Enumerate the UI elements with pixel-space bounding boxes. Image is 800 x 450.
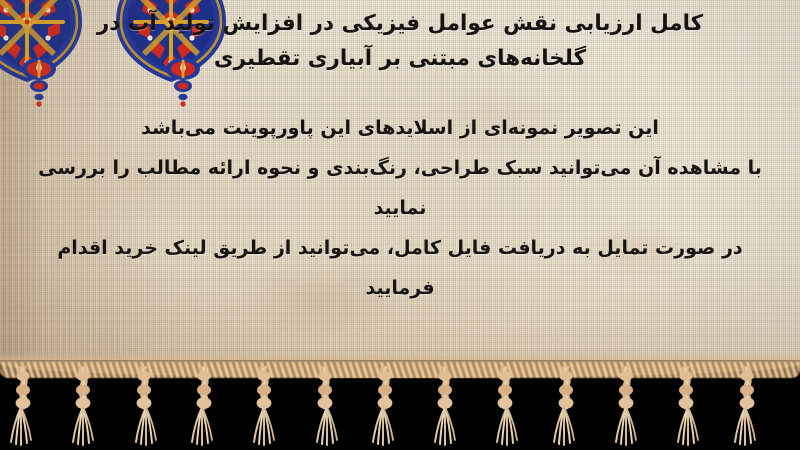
body-line-3: در صورت تمایل به دریافت فایل کامل، می‌تو… <box>20 228 780 308</box>
fringe-tassel <box>249 366 279 450</box>
fringe-tassel <box>129 366 159 450</box>
fringe-tassel <box>370 366 400 450</box>
fringe-tassel <box>490 366 520 450</box>
fringe-tassel <box>732 366 762 450</box>
fringe-tassel <box>310 366 340 450</box>
slide-text-layer: کامل ارزیابی نقش عوامل فیزیکی در افزایش … <box>0 0 800 372</box>
slide-canvas: کامل ارزیابی نقش عوامل فیزیکی در افزایش … <box>0 0 800 450</box>
slide-body: این تصویر نمونه‌ای از اسلایدهای این پاور… <box>20 108 780 308</box>
title-line-2: گلخانه‌های مبتنی بر آبیاری تقطیری <box>28 41 772 76</box>
body-line-1: این تصویر نمونه‌ای از اسلایدهای این پاور… <box>20 108 780 148</box>
slide-title: کامل ارزیابی نقش عوامل فیزیکی در افزایش … <box>28 6 772 76</box>
fringe-tassel <box>611 366 641 450</box>
fringe-tassel <box>551 366 581 450</box>
fringe-tassel <box>430 366 460 450</box>
fringe-tassel <box>671 366 701 450</box>
body-line-2: با مشاهده آن می‌توانید سبک طراحی، رنگ‌بن… <box>20 148 780 228</box>
fringe-tassel <box>68 366 98 450</box>
fringe-tassel <box>189 366 219 450</box>
fringe-tassel <box>8 366 38 450</box>
title-line-1: کامل ارزیابی نقش عوامل فیزیکی در افزایش … <box>28 6 772 41</box>
